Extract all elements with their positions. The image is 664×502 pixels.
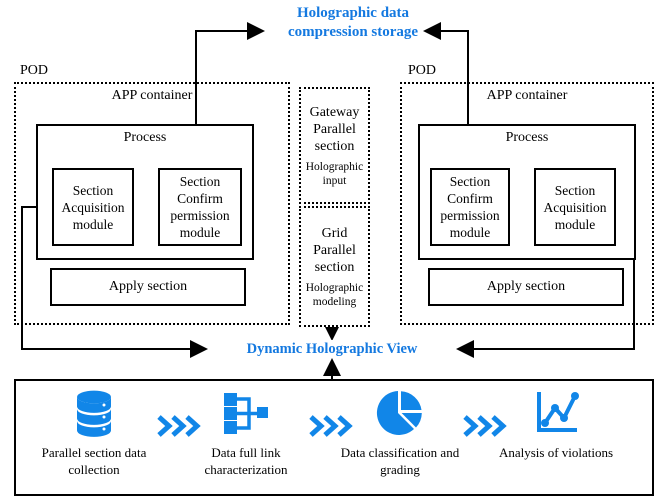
module-section-acquisition-right[interactable]: Section Acquisition module bbox=[534, 168, 616, 246]
gateway-parallel-section[interactable]: Gateway Parallel section Holographic inp… bbox=[299, 87, 370, 204]
pipeline-step-2-label: Data full link characterization bbox=[182, 444, 310, 478]
apply-section-left[interactable]: Apply section bbox=[50, 268, 246, 306]
apply-section-right[interactable]: Apply section bbox=[428, 268, 624, 306]
grid-parallel-section[interactable]: Grid Parallel section Holographic modeli… bbox=[299, 206, 370, 327]
module-label: Section Confirm permission module bbox=[432, 173, 508, 241]
gateway-parallel-section-subtitle: Holographic input bbox=[301, 160, 368, 188]
module-label: Section Acquisition module bbox=[536, 182, 614, 233]
pipeline-step-2[interactable]: Data full link characterization bbox=[182, 387, 310, 478]
module-section-confirm-permission-left[interactable]: Section Confirm permission module bbox=[158, 168, 242, 246]
database-icon bbox=[30, 387, 158, 439]
module-section-confirm-permission-right[interactable]: Section Confirm permission module bbox=[430, 168, 510, 246]
pipeline-band: Parallel section data collection bbox=[14, 379, 654, 496]
pipeline-step-3[interactable]: Data classification and grading bbox=[336, 387, 464, 478]
module-label: Section Acquisition module bbox=[54, 182, 132, 233]
apply-section-label: Apply section bbox=[487, 279, 565, 295]
process-label-right: Process bbox=[420, 130, 634, 146]
pie-chart-icon bbox=[336, 387, 464, 439]
app-container-label-right: APP container bbox=[402, 88, 652, 104]
gateway-parallel-section-title: Gateway Parallel section bbox=[301, 104, 368, 155]
process-label-left: Process bbox=[38, 130, 252, 146]
grid-parallel-section-subtitle: Holographic modeling bbox=[301, 281, 368, 309]
pod-label-left: POD bbox=[20, 63, 48, 79]
pipeline-step-1[interactable]: Parallel section data collection bbox=[30, 387, 158, 478]
module-label: Section Confirm permission module bbox=[160, 173, 240, 241]
app-container-label-left: APP container bbox=[16, 88, 288, 104]
pipeline-step-4-label: Analysis of violations bbox=[492, 444, 620, 461]
module-section-acquisition-left[interactable]: Section Acquisition module bbox=[52, 168, 134, 246]
apply-section-label: Apply section bbox=[109, 279, 187, 295]
pipeline-step-1-label: Parallel section data collection bbox=[30, 444, 158, 478]
sitemap-link-icon bbox=[182, 387, 310, 439]
diagram-canvas: Holographic data compression storage POD… bbox=[0, 0, 664, 502]
pod-label-right: POD bbox=[408, 63, 436, 79]
dynamic-holographic-view-label: Dynamic Holographic View bbox=[213, 340, 451, 358]
pipeline-step-3-label: Data classification and grading bbox=[336, 444, 464, 478]
page-title: Holographic data compression storage bbox=[258, 4, 448, 42]
grid-parallel-section-title: Grid Parallel section bbox=[301, 225, 368, 276]
line-chart-icon bbox=[492, 387, 620, 439]
pipeline-step-4[interactable]: Analysis of violations bbox=[492, 387, 620, 461]
